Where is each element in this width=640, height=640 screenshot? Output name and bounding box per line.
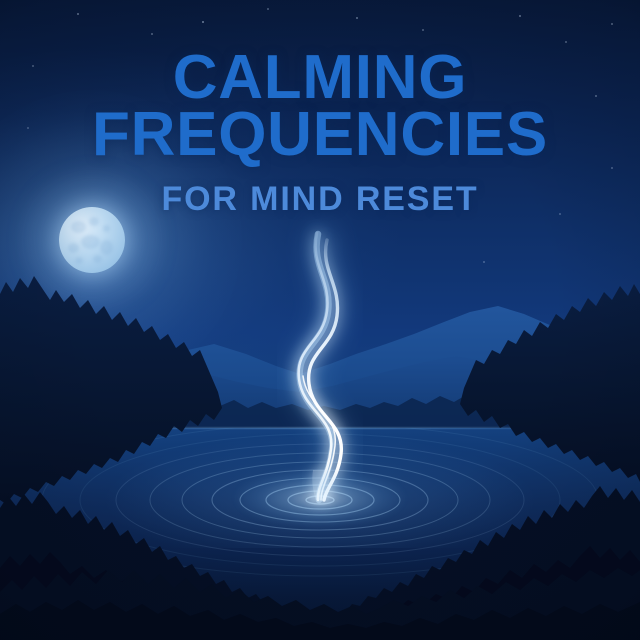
star-icon (559, 213, 561, 215)
star-icon (32, 65, 34, 67)
star-icon (611, 167, 613, 169)
star-icon (422, 29, 424, 31)
star-icon (267, 8, 269, 10)
moon-craters (59, 207, 125, 273)
foreground-treeline-bottom (0, 540, 640, 640)
album-cover-artwork: CALMING FREQUENCIES FOR MIND RESET (0, 0, 640, 640)
full-moon-icon (59, 207, 125, 273)
star-icon (565, 41, 567, 43)
star-icon (151, 33, 153, 35)
star-icon (483, 261, 485, 263)
